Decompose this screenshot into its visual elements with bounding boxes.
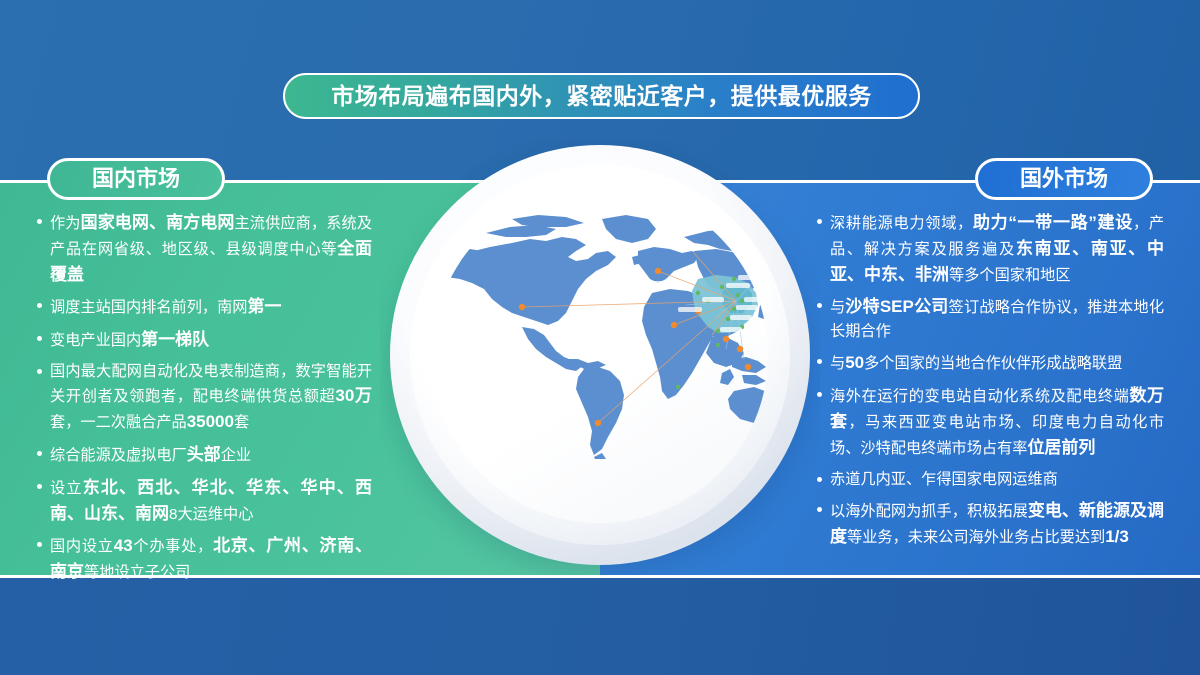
body-text: 海外在运行的变电站自动化系统及配电终端: [830, 388, 1129, 405]
body-text: 调度主站国内排名前列，南网: [50, 299, 247, 316]
list-item: 赤道几内亚、乍得国家电网运维商: [816, 468, 1164, 491]
emphasis-text: 第一: [247, 297, 281, 316]
domestic-market-list: 作为国家电网、南方电网主流供应商，系统及产品在网省级、地区级、县级调度中心等全面…: [36, 210, 372, 592]
body-text: 国内设立: [50, 538, 114, 555]
body-text: 个办事处，: [133, 538, 213, 555]
list-item: 深耕能源电力领域，助力“一带一路”建设，产品、解决方案及服务遍及东南亚、南亚、中…: [816, 210, 1164, 287]
domestic-market-heading: 国内市场: [47, 158, 225, 200]
list-item: 调度主站国内排名前列，南网第一: [36, 294, 372, 320]
overseas-market-list: 深耕能源电力领域，助力“一带一路”建设，产品、解决方案及服务遍及东南亚、南亚、中…: [816, 210, 1164, 556]
body-text: 套: [234, 414, 249, 431]
emphasis-text: 30万: [335, 386, 372, 405]
list-item: 国内最大配网自动化及电表制造商，数字智能开关开创者及领跑者，配电终端供货总额超3…: [36, 360, 372, 435]
world-map-svg: [432, 209, 768, 459]
list-item: 与沙特SEP公司签订战略合作协议，推进本地化长期合作: [816, 294, 1164, 343]
body-text: 作为: [50, 215, 81, 232]
body-text: 变电产业国内: [50, 332, 141, 349]
body-text: 8大运维中心: [169, 506, 253, 523]
body-text: 与: [830, 355, 845, 372]
overseas-market-heading: 国外市场: [975, 158, 1153, 200]
emphasis-text: 助力“一带一路”建设: [973, 213, 1133, 232]
list-item: 海外在运行的变电站自动化系统及配电终端数万套，马来西亚变电站市场、印度电力自动化…: [816, 383, 1164, 460]
body-text: 等多个国家和地区: [949, 267, 1071, 284]
emphasis-text: 国家电网、南方电网: [81, 213, 235, 232]
body-text: 设立: [50, 480, 83, 497]
body-text: ，马来西亚变电站市场、印度电力自动化市场、沙特配电终端市场占有率: [830, 414, 1164, 457]
list-item: 变电产业国内第一梯队: [36, 327, 372, 353]
body-text: 深耕能源电力领域，: [830, 215, 973, 232]
list-item: 设立东北、西北、华北、华东、华中、西南、山东、南网8大运维中心: [36, 475, 372, 527]
emphasis-text: 第一梯队: [141, 330, 209, 349]
emphasis-text: 位居前列: [1027, 438, 1095, 457]
body-text: 国内最大配网自动化及电表制造商，数字智能开关开创者及领跑者，配电终端供货总额超: [50, 363, 372, 405]
domestic-market-heading-text: 国内市场: [92, 168, 180, 190]
overseas-market-heading-text: 国外市场: [1020, 168, 1108, 190]
body-text: 等地设立子公司: [84, 564, 190, 581]
emphasis-text: 1/3: [1105, 527, 1129, 546]
globe-face: [432, 187, 768, 523]
world-map-globe: [380, 140, 820, 600]
list-item: 国内设立43个办事处，北京、广州、济南、南京等地设立子公司: [36, 533, 372, 585]
emphasis-text: 沙特SEP公司: [845, 297, 948, 316]
bottom-band: [0, 578, 1200, 675]
body-text: 综合能源及虚拟电厂: [50, 447, 187, 464]
body-text: 与: [830, 299, 845, 316]
emphasis-text: 头部: [187, 445, 221, 464]
emphasis-text: 50: [845, 353, 864, 372]
emphasis-text: 43: [114, 536, 133, 555]
slide-title: 市场布局遍布国内外，紧密贴近客户，提供最优服务: [283, 73, 920, 119]
body-text: 套，一二次融合产品: [50, 414, 187, 431]
body-text: 等业务，未来公司海外业务占比要达到: [847, 529, 1105, 546]
body-text: 赤道几内亚、乍得国家电网运维商: [830, 471, 1058, 488]
body-text: 以海外配网为抓手，积极拓展: [830, 503, 1028, 520]
list-item: 与50多个国家的当地合作伙伴形成战略联盟: [816, 350, 1164, 376]
body-text: 多个国家的当地合作伙伴形成战略联盟: [864, 355, 1122, 372]
slide: 市场布局遍布国内外，紧密贴近客户，提供最优服务 国内市场 国外市场 作为国家电网…: [0, 0, 1200, 675]
emphasis-text: 35000: [187, 412, 234, 431]
list-item: 作为国家电网、南方电网主流供应商，系统及产品在网省级、地区级、县级调度中心等全面…: [36, 210, 372, 287]
body-text: 企业: [221, 447, 251, 464]
slide-title-text: 市场布局遍布国内外，紧密贴近客户，提供最优服务: [331, 85, 872, 108]
list-item: 以海外配网为抓手，积极拓展变电、新能源及调度等业务，未来公司海外业务占比要达到1…: [816, 498, 1164, 550]
list-item: 综合能源及虚拟电厂头部企业: [36, 442, 372, 468]
